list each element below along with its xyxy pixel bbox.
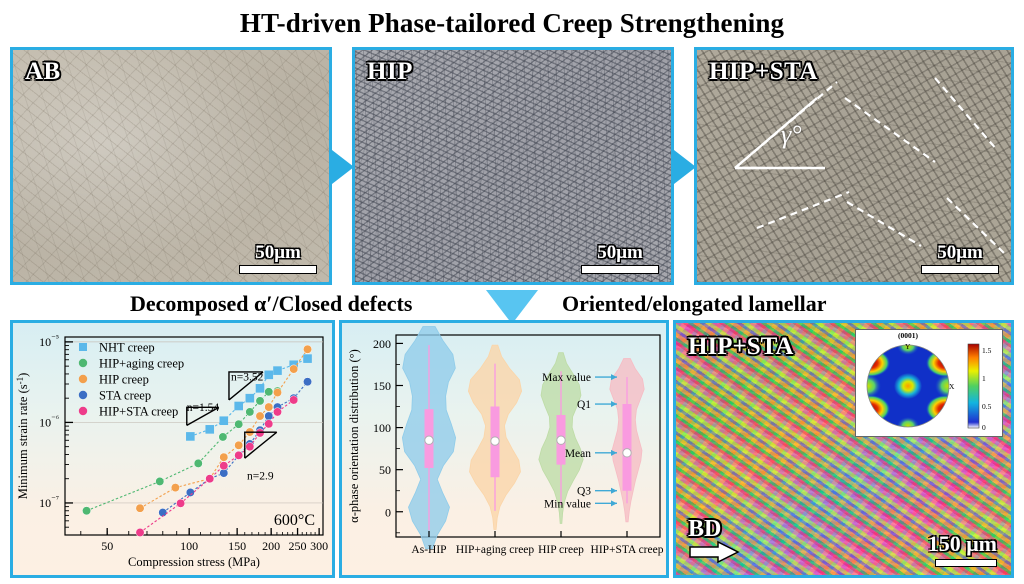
scalebar-ab: 50μm [239, 243, 317, 274]
pole-figure-svg: Y X 1.5 1 0.5 0 [856, 330, 1004, 438]
micrograph-label-ab: AB [25, 58, 61, 86]
svg-text:As-HIP: As-HIP [411, 544, 446, 556]
micrograph-panel-ab: AB 50μm [10, 47, 332, 285]
svg-text:Minimum strain rate (s-1): Minimum strain rate (s-1) [15, 373, 30, 500]
pole-figure-axis-x: X [949, 382, 955, 391]
creep-chart-svg: 50100150200250300Compression stress (MPa… [13, 323, 332, 575]
caption-left: Decomposed α′/Closed defects [130, 291, 412, 317]
svg-text:50: 50 [101, 539, 113, 553]
ebsd-scalebar-rule [935, 559, 997, 567]
ebsd-direction-label: BD [688, 516, 721, 543]
svg-text:Q1: Q1 [577, 399, 591, 411]
svg-text:1.5: 1.5 [982, 346, 992, 355]
svg-text:250: 250 [289, 539, 307, 553]
creep-chart-panel: 50100150200250300Compression stress (MPa… [10, 320, 335, 578]
svg-text:STA creep: STA creep [99, 389, 151, 403]
svg-text:n=2.9: n=2.9 [247, 471, 274, 483]
svg-text:α-phase orientation distributi: α-phase orientation distribution (°) [347, 349, 361, 523]
svg-text:HIP creep: HIP creep [538, 544, 584, 556]
svg-text:Max value: Max value [542, 372, 591, 384]
svg-text:Compression stress (MPa): Compression stress (MPa) [128, 555, 260, 569]
scalebar-label-hip-sta: 50μm [921, 243, 999, 262]
svg-text:HIP+aging creep: HIP+aging creep [99, 357, 184, 371]
svg-text:100: 100 [373, 421, 391, 435]
svg-text:n=3.52: n=3.52 [231, 372, 264, 384]
svg-text:300: 300 [310, 539, 328, 553]
svg-text:1: 1 [982, 374, 986, 383]
svg-text:0.5: 0.5 [982, 402, 992, 411]
svg-text:Mean: Mean [565, 448, 591, 460]
svg-text:HIP+STA creep: HIP+STA creep [99, 405, 178, 419]
svg-text:200: 200 [373, 337, 391, 351]
scalebar-rule-hip [581, 265, 659, 274]
ebsd-map-panel: HIP+STA BD 150 μm (0001) [673, 320, 1014, 578]
svg-text:n=1.54: n=1.54 [187, 402, 220, 414]
process-arrow-icon-1 [332, 150, 354, 184]
scalebar-label-hip: 50μm [581, 243, 659, 262]
gamma-angle-symbol: γ° [781, 120, 802, 150]
process-arrow-icon-2 [674, 150, 696, 184]
svg-text:10⁻⁵: 10⁻⁵ [39, 333, 59, 349]
scalebar-hip-sta: 50μm [921, 243, 999, 274]
svg-text:HIP+STA creep: HIP+STA creep [591, 544, 664, 556]
svg-text:150: 150 [373, 379, 391, 393]
scalebar-label-ab: 50μm [239, 243, 317, 262]
micrograph-label-hip-sta: HIP+STA [709, 58, 818, 86]
violin-chart-panel: 050100150200α-phase orientation distribu… [339, 320, 669, 578]
scalebar-rule-ab [239, 265, 317, 274]
pole-figure-axis-y: Y [905, 342, 911, 351]
scalebar-hip: 50μm [581, 243, 659, 274]
svg-text:50: 50 [379, 463, 391, 477]
svg-text:200: 200 [262, 539, 280, 553]
svg-text:0: 0 [982, 423, 986, 432]
pole-figure-inset: (0001) [855, 329, 1003, 437]
ebsd-condition-label: HIP+STA [688, 333, 793, 361]
svg-text:10⁻⁶: 10⁻⁶ [39, 413, 59, 429]
page-title: HT-driven Phase-tailored Creep Strengthe… [0, 8, 1024, 39]
micrograph-label-hip: HIP [367, 58, 413, 86]
svg-text:0: 0 [385, 505, 391, 519]
ebsd-scalebar-label: 150 μm [928, 533, 997, 555]
pole-figure-title: (0001) [856, 331, 960, 340]
ebsd-scalebar: 150 μm [928, 533, 997, 567]
svg-text:NHT creep: NHT creep [99, 341, 155, 355]
svg-text:600°C: 600°C [274, 512, 315, 529]
down-arrow-icon [486, 290, 538, 324]
svg-text:150: 150 [228, 539, 246, 553]
caption-right: Oriented/elongated lamellar [562, 291, 827, 317]
build-direction-arrow-icon [688, 540, 742, 569]
svg-text:Q3: Q3 [577, 486, 591, 498]
micrograph-panel-hip-sta: γ° HIP+STA 50μm [694, 47, 1014, 285]
micrograph-panel-hip: HIP 50μm [352, 47, 674, 285]
svg-text:HIP creep: HIP creep [99, 373, 149, 387]
svg-text:10⁻⁷: 10⁻⁷ [39, 494, 59, 510]
svg-text:HIP+aging creep: HIP+aging creep [456, 544, 535, 556]
violin-chart-svg: 050100150200α-phase orientation distribu… [342, 323, 666, 575]
svg-text:Min value: Min value [544, 498, 591, 510]
svg-text:100: 100 [180, 539, 198, 553]
scalebar-rule-hip-sta [921, 265, 999, 274]
